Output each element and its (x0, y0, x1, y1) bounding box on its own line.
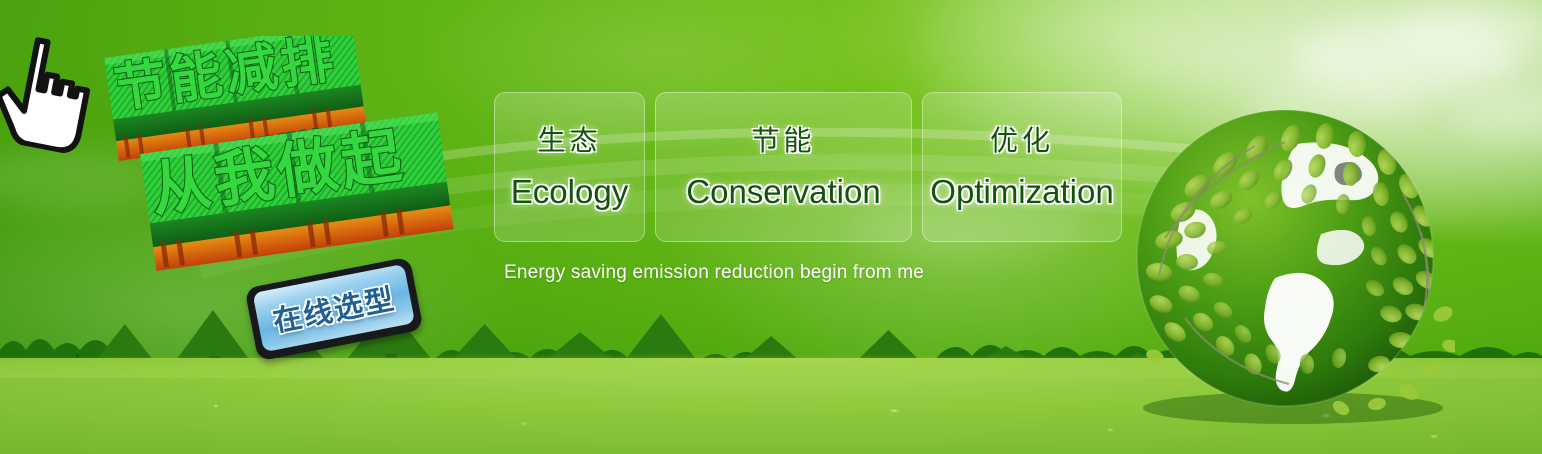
card-conservation[interactable]: 节能 Conservation (655, 92, 912, 242)
card-conservation-cn: 节能 (751, 127, 815, 155)
tagline: Energy saving emission reduction begin f… (504, 262, 924, 284)
card-optimization[interactable]: 优化 Optimization (922, 92, 1122, 242)
leafy-globe-icon (1125, 108, 1455, 424)
cloud (1290, 22, 1520, 94)
card-optimization-en: Optimization (930, 175, 1113, 208)
cloud (1400, 6, 1542, 56)
cloud (1120, 34, 1270, 84)
card-ecology-en: Ecology (511, 175, 628, 208)
cloud (1455, 96, 1542, 142)
card-ecology[interactable]: 生态 Ecology (494, 92, 645, 242)
card-ecology-cn: 生态 (537, 127, 601, 155)
hand-pointer-icon (0, 27, 106, 158)
card-optimization-cn: 优化 (990, 127, 1054, 155)
card-conservation-en: Conservation (686, 175, 880, 208)
feature-cards: 生态 Ecology 节能 Conservation 优化 Optimizati… (494, 92, 1122, 242)
green-energy-banner: GREEN (0, 0, 1542, 454)
headline-3d-logo: GREEN (96, 36, 496, 272)
online-selection-button[interactable]: 在线选型 (244, 257, 423, 362)
